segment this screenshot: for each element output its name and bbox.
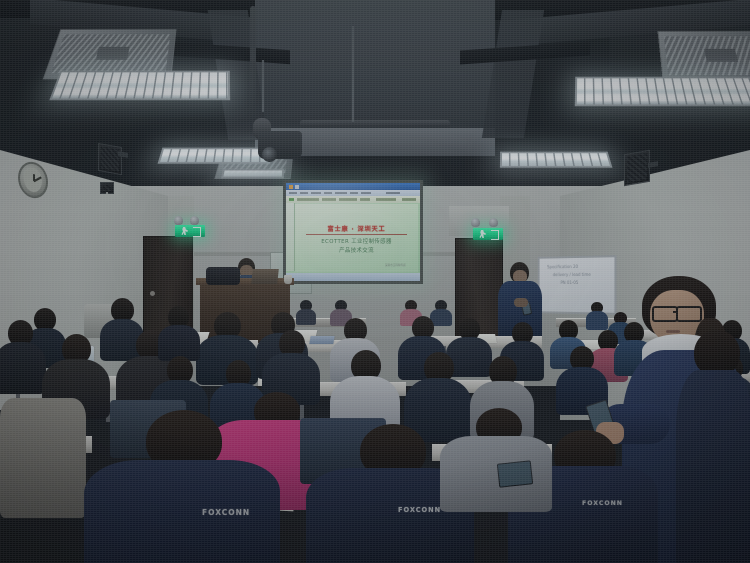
ceiling-light-3	[158, 148, 271, 164]
emergency-lamp	[174, 216, 183, 225]
classroom-photo: 富士康 · 深圳天工 ECOTTER 工业控制传感器 产品技术交流 深圳市艾科特…	[0, 0, 750, 563]
slide-title: 富士康 · 深圳天工	[295, 224, 418, 233]
attendee	[0, 320, 46, 388]
app-title-bar	[286, 183, 420, 190]
wall-molding	[194, 252, 270, 256]
exit-door-icon	[491, 230, 499, 240]
running-man-icon	[181, 227, 188, 235]
attendee	[262, 330, 320, 400]
ceiling-hanger	[352, 26, 354, 122]
glasses-icon	[652, 306, 678, 322]
app-slide-panel	[286, 203, 295, 271]
ceiling-projector	[258, 131, 302, 159]
glasses-bridge	[673, 311, 678, 313]
projection-screen: 富士康 · 深圳天工 ECOTTER 工业控制传感器 产品技术交流 深圳市艾科特…	[283, 180, 423, 284]
ceiling-light-4	[500, 152, 613, 168]
ceiling-soffit	[255, 0, 495, 130]
ceiling-light-2	[575, 77, 750, 106]
glasses-icon	[676, 306, 702, 322]
exit-sign-right	[473, 228, 503, 240]
emergency-lamp	[489, 218, 498, 227]
standing-man-hand	[514, 298, 528, 307]
foxconn-logo: FOXCONN	[582, 500, 623, 507]
ceiling-hanger	[262, 60, 264, 112]
whiteboard-line-2: delivery / lead time	[553, 272, 591, 278]
attendee-right-edge	[676, 330, 750, 563]
app-status-bar	[286, 273, 420, 281]
exit-sign-left	[175, 225, 205, 237]
ceiling-light-5	[221, 169, 284, 179]
ceiling-light-1	[49, 71, 230, 100]
attendee-grey	[440, 408, 552, 504]
app-tool-bar	[286, 196, 420, 203]
ac-diffuser-right	[657, 31, 750, 81]
bag-on-podium	[206, 267, 240, 285]
attendee-foreground-left	[0, 398, 86, 518]
cup-on-podium	[284, 275, 292, 284]
ceiling-pipe	[300, 120, 450, 127]
slide-content: 富士康 · 深圳天工 ECOTTER 工业控制传感器 产品技术交流 深圳市艾科特…	[295, 204, 418, 272]
attendee-foxconn-1: FOXCONN	[84, 412, 280, 563]
slide-line-2: 产品技术交流	[295, 246, 418, 254]
foxconn-logo: FOXCONN	[202, 508, 250, 517]
emergency-lamp	[471, 218, 480, 227]
emergency-lamp	[190, 216, 199, 225]
whiteboard-line-1: Specification 20	[547, 264, 578, 270]
wall-speaker-right	[624, 150, 650, 187]
foxconn-logo: FOXCONN	[398, 506, 441, 514]
running-man-icon	[479, 230, 486, 238]
whiteboard-line-3: PN 01-05	[560, 280, 578, 286]
wall-cable	[106, 192, 108, 262]
attendee	[586, 302, 608, 328]
slide-line-1: ECOTTER 工业控制传感器	[295, 237, 418, 245]
ceiling-pipe	[250, 6, 256, 126]
exit-door-icon	[193, 227, 201, 237]
projector-lens-icon	[262, 147, 277, 162]
attendee	[158, 306, 200, 354]
wall-speaker-left	[98, 143, 122, 175]
tablet	[497, 460, 533, 487]
laptop-on-podium	[251, 269, 279, 284]
slide-footer: 深圳市艾科特传感	[385, 263, 406, 267]
projected-image: 富士康 · 深圳天工 ECOTTER 工业控制传感器 产品技术交流 深圳市艾科特…	[286, 183, 420, 281]
